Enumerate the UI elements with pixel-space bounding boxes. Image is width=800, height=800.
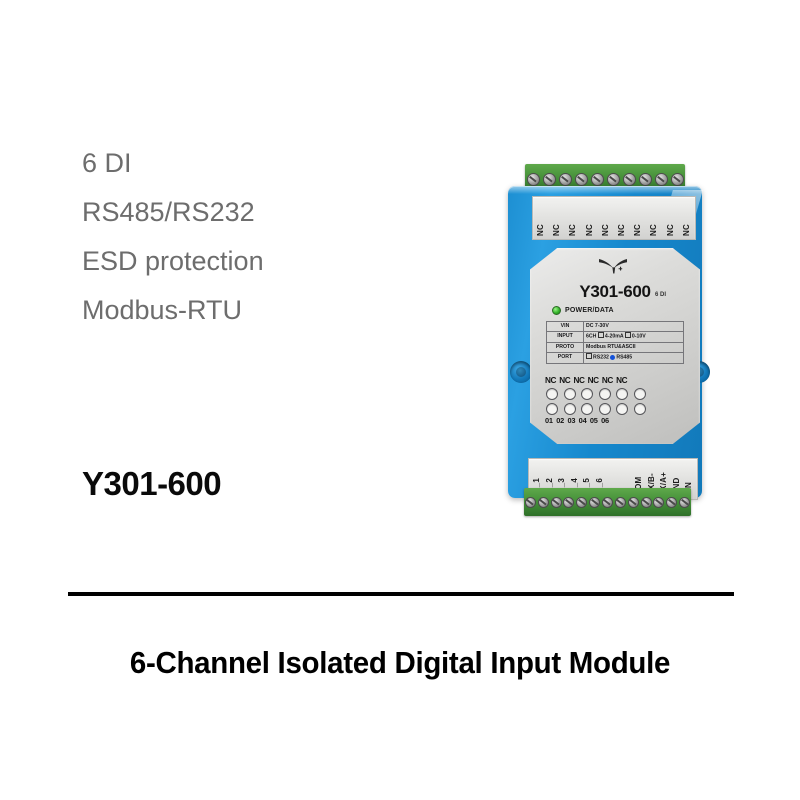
input-option-label: 4-20mA — [605, 334, 624, 340]
terminal-screw-icon — [639, 173, 652, 186]
terminal-screw-icon — [576, 497, 587, 508]
checkbox-4-20ma-icon — [598, 332, 604, 338]
input-channel-count: 6CH — [586, 334, 596, 340]
spec-value-input: 6CH 4-20mA 0-10V — [584, 331, 684, 342]
terminal-label: NC — [683, 224, 691, 236]
y-bird-logo-icon — [598, 258, 632, 274]
nc-label: NC — [588, 376, 599, 385]
bottom-terminal-block — [524, 488, 691, 516]
indicator-led-icon — [634, 403, 646, 415]
indicator-led-icon — [616, 403, 628, 415]
spec-key: PROTO — [547, 343, 584, 353]
feature-item: Modbus-RTU — [82, 297, 412, 324]
spec-row: PROTO Modbus RTU&ASCII — [547, 343, 684, 353]
channel-number: 04 — [579, 416, 587, 425]
channel-nc-label-row: NC NC NC NC NC NC — [545, 376, 687, 385]
horizontal-divider — [68, 592, 734, 596]
checkbox-0-10v-icon — [625, 332, 631, 338]
indicator-led-icon — [581, 403, 593, 415]
terminal-screw-icon — [602, 497, 613, 508]
indicator-led-icon — [634, 388, 646, 400]
power-data-led-icon — [552, 306, 561, 315]
spec-row: VIN DC 7-30V — [547, 322, 684, 332]
channel-number: 06 — [601, 416, 609, 425]
terminal-screw-icon — [538, 497, 549, 508]
terminal-label: NC — [537, 224, 545, 236]
terminal-screw-icon — [641, 497, 652, 508]
terminal-label: NC — [602, 224, 610, 236]
terminal-label: NC — [618, 224, 626, 236]
terminal-screw-icon — [628, 497, 639, 508]
spec-key: INPUT — [547, 331, 584, 342]
terminal-screw-icon — [559, 173, 572, 186]
channel-number: 02 — [556, 416, 564, 425]
terminal-label: NC — [586, 224, 594, 236]
channel-number-row: 01 02 03 04 05 06 — [545, 416, 687, 425]
channel-number: 01 — [545, 416, 553, 425]
terminal-screw-icon — [666, 497, 677, 508]
terminal-screw-icon — [591, 173, 604, 186]
spec-value-port: RS232 RS485 — [584, 352, 684, 363]
indicator-led-icon — [599, 403, 611, 415]
feature-item: 6 DI — [82, 150, 412, 177]
device-enclosure: NC NC NC NC NC NC NC NC NC NC — [508, 186, 702, 498]
indicator-led-icon — [599, 388, 611, 400]
terminal-screw-icon — [655, 173, 668, 186]
terminal-label: NC — [553, 224, 561, 236]
terminal-label: NC — [634, 224, 642, 236]
front-label-plate: Y301-600 6 DI POWER/DATA VIN DC 7-30V IN… — [530, 248, 700, 444]
brand-logo — [530, 258, 700, 279]
terminal-screw-icon — [589, 497, 600, 508]
spec-row: PORT RS232 RS485 — [547, 352, 684, 363]
indicator-led-icon — [581, 388, 593, 400]
spec-key: PORT — [547, 352, 584, 363]
indicator-row-top — [546, 388, 688, 400]
terminal-screw-icon — [615, 497, 626, 508]
terminal-screw-icon — [551, 497, 562, 508]
feature-item: ESD protection — [82, 248, 412, 275]
product-title: 6-Channel Isolated Digital Input Module — [20, 645, 780, 681]
terminal-label: NC — [667, 224, 675, 236]
terminal-screw-icon — [575, 173, 588, 186]
device-model-suffix: 6 DI — [655, 292, 666, 298]
terminal-label: NC — [650, 224, 658, 236]
nc-label: NC — [602, 376, 613, 385]
indicator-led-icon — [546, 403, 558, 415]
terminal-screw-icon — [653, 497, 664, 508]
terminal-label: NC — [569, 224, 577, 236]
terminal-screw-icon — [623, 173, 636, 186]
indicator-led-icon — [564, 403, 576, 415]
channel-number: 05 — [590, 416, 598, 425]
spec-row: INPUT 6CH 4-20mA 0-10V — [547, 331, 684, 342]
indicator-led-icon — [564, 388, 576, 400]
terminal-screw-icon — [607, 173, 620, 186]
spec-key: VIN — [547, 322, 584, 332]
feature-item: RS485/RS232 — [82, 199, 412, 226]
product-device-photo: NC NC NC NC NC NC NC NC NC NC — [498, 158, 710, 520]
terminal-screw-icon — [671, 173, 684, 186]
nc-label: NC — [573, 376, 584, 385]
input-option-label: 0-10V — [632, 334, 646, 340]
spec-value: DC 7-30V — [584, 322, 684, 332]
product-model-name: Y301-600 — [82, 465, 221, 503]
port-option-label: RS232 — [593, 355, 609, 361]
terminal-screw-icon — [563, 497, 574, 508]
terminal-screw-icon — [679, 497, 690, 508]
checkbox-rs485-selected-icon — [610, 355, 615, 360]
indicator-led-icon — [616, 388, 628, 400]
indicator-led-icon — [546, 388, 558, 400]
power-data-indicator: POWER/DATA — [552, 306, 614, 315]
power-data-label: POWER/DATA — [565, 307, 614, 314]
mounting-screw-boss-left — [510, 361, 532, 383]
checkbox-rs232-icon — [586, 353, 592, 359]
feature-list: 6 DI RS485/RS232 ESD protection Modbus-R… — [82, 150, 412, 346]
spec-value: Modbus RTU&ASCII — [584, 343, 684, 353]
device-model-print: Y301-600 — [530, 282, 700, 302]
port-option-label: RS485 — [616, 355, 632, 361]
terminal-screw-icon — [527, 173, 540, 186]
top-label-strip: NC NC NC NC NC NC NC NC NC NC — [532, 196, 696, 240]
nc-label: NC — [616, 376, 627, 385]
terminal-screw-icon — [543, 173, 556, 186]
indicator-row-bottom — [546, 403, 688, 415]
product-image-canvas: 6 DI RS485/RS232 ESD protection Modbus-R… — [0, 0, 800, 800]
nc-label: NC — [559, 376, 570, 385]
terminal-screw-icon — [525, 497, 536, 508]
nc-label: NC — [545, 376, 556, 385]
specification-table: VIN DC 7-30V INPUT 6CH 4-20mA 0-10V PROT… — [546, 321, 684, 364]
channel-number: 03 — [567, 416, 575, 425]
